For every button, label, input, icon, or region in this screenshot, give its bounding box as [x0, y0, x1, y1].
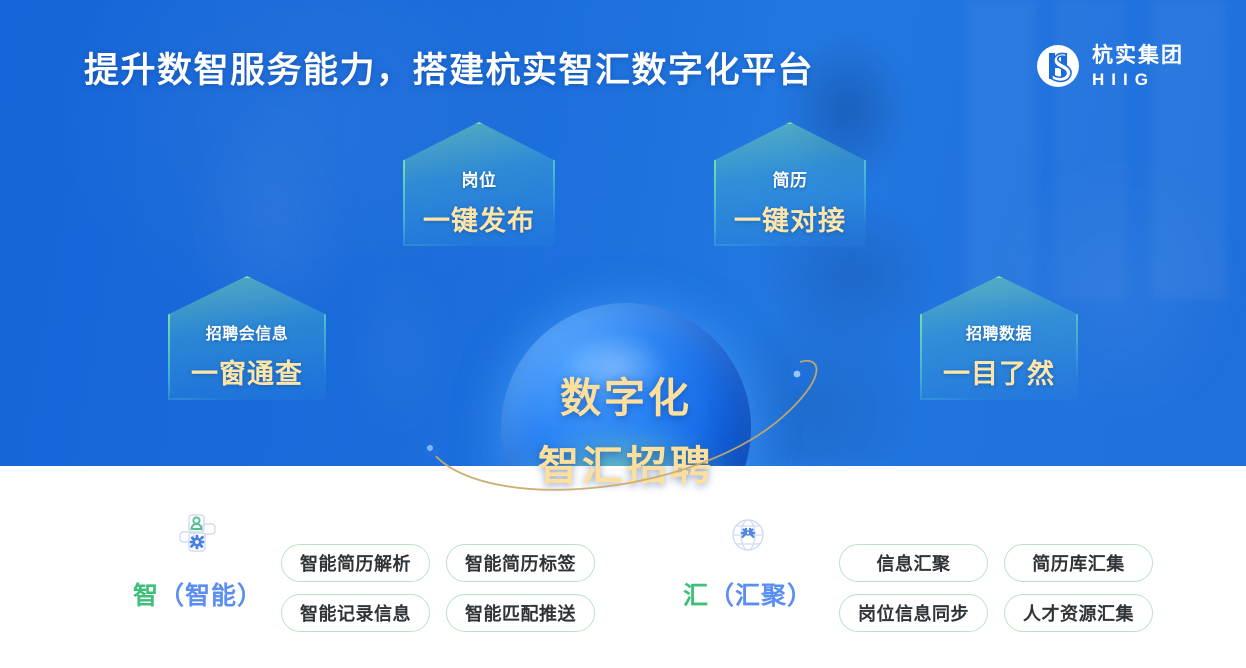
pill-item[interactable]: 智能简历解析 — [281, 544, 430, 582]
feature-card-title: 一键对接 — [714, 199, 866, 238]
pill-item[interactable]: 智能匹配推送 — [446, 594, 595, 632]
brand-name-en: HIIG — [1092, 71, 1184, 88]
group-intelligence: 智（智能） — [133, 512, 263, 612]
feature-card-subtitle: 招聘数据 — [920, 320, 1078, 344]
group-char: 智 — [133, 582, 159, 610]
globe-node-icon — [725, 512, 771, 558]
group-aggregation: 汇（汇聚） — [683, 512, 813, 612]
brand-logo: 杭实集团 HIIG — [1036, 44, 1184, 88]
feature-card-subtitle: 简历 — [714, 166, 866, 191]
pill-group-intelligence: 智能简历解析 智能简历标签 智能记录信息 智能匹配推送 — [281, 544, 595, 632]
feature-card-resume-match[interactable]: 简历 一键对接 — [714, 122, 866, 246]
brand-name-cn: 杭实集团 — [1092, 45, 1184, 66]
feature-card-title: 一目了然 — [920, 352, 1078, 391]
brand-text: 杭实集团 HIIG — [1092, 45, 1184, 88]
orbit-node-right — [790, 368, 808, 386]
group-label-aggregation: 汇（汇聚） — [683, 576, 813, 612]
feature-card-recruit-data[interactable]: 招聘数据 一目了然 — [920, 276, 1078, 400]
poster-canvas: 提升数智服务能力，搭建杭实智汇数字化平台 杭实集团 HIIG 岗位 一键发布 简… — [0, 0, 1246, 668]
pill-item[interactable]: 简历库汇集 — [1004, 544, 1153, 582]
feature-card-title: 一键发布 — [403, 199, 555, 238]
feature-card-subtitle: 招聘会信息 — [168, 320, 326, 344]
pill-item[interactable]: 人才资源汇集 — [1004, 594, 1153, 632]
pill-item[interactable]: 智能记录信息 — [281, 594, 430, 632]
hiig-monogram-icon — [1036, 44, 1080, 88]
group-paren: （汇聚） — [709, 582, 813, 610]
orbit-ring — [380, 320, 850, 510]
pill-group-aggregation: 信息汇聚 简历库汇集 岗位信息同步 人才资源汇集 — [839, 544, 1153, 632]
pill-item[interactable]: 智能简历标签 — [446, 544, 595, 582]
feature-card-job-fair[interactable]: 招聘会信息 一窗通查 — [168, 276, 326, 400]
feature-card-subtitle: 岗位 — [403, 166, 555, 191]
pill-item[interactable]: 岗位信息同步 — [839, 594, 988, 632]
page-title: 提升数智服务能力，搭建杭实智汇数字化平台 — [84, 42, 814, 93]
feature-card-job-post[interactable]: 岗位 一键发布 — [403, 122, 555, 246]
group-label-intelligence: 智（智能） — [133, 576, 263, 612]
person-card-gear-icon — [175, 512, 221, 558]
group-char: 汇 — [683, 582, 709, 610]
feature-card-title: 一窗通查 — [168, 352, 326, 391]
group-paren: （智能） — [159, 582, 263, 610]
pill-item[interactable]: 信息汇聚 — [839, 544, 988, 582]
